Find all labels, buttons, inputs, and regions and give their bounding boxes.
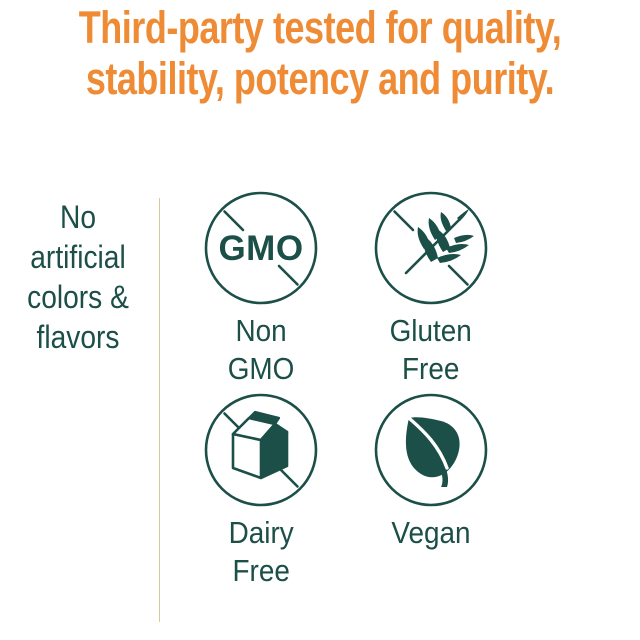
- badge-label-line-1: Dairy: [228, 514, 293, 552]
- vertical-divider: [159, 198, 160, 622]
- claim-line-4: flavors: [16, 317, 139, 357]
- badge-label-line-2: Free: [228, 552, 293, 590]
- no-artificial-colors-flavors-claim: No artificial colors & flavors: [8, 197, 148, 357]
- leaf-icon: [369, 388, 493, 512]
- badge-vegan[interactable]: Vegan: [346, 388, 516, 590]
- badge-row-bottom: Dairy Free Vegan: [176, 388, 516, 590]
- badge-label-line-1: Non: [228, 312, 295, 350]
- certification-badge-grid: GMO Non GMO: [176, 186, 516, 590]
- claim-line-3: colors &: [16, 277, 139, 317]
- wheat-stalk-shape: [406, 209, 474, 273]
- badge-label-vegan: Vegan: [387, 514, 475, 552]
- badge-label-dairy-free: Dairy Free: [225, 514, 297, 590]
- carton-shape: [233, 412, 287, 478]
- no-gmo-icon: GMO: [199, 186, 323, 310]
- badge-non-gmo[interactable]: GMO Non GMO: [176, 186, 346, 388]
- gmo-inner-text: GMO: [218, 229, 303, 268]
- badge-dairy-free[interactable]: Dairy Free: [176, 388, 346, 590]
- badge-label-line-1: Vegan: [391, 514, 470, 552]
- headline: Third-party tested for quality, stabilit…: [0, 0, 640, 104]
- headline-line-1: Third-party tested for quality,: [64, 2, 576, 53]
- badge-gluten-free[interactable]: Gluten Free: [346, 186, 516, 388]
- badge-label-gluten-free: Gluten Free: [385, 312, 476, 388]
- badge-label-non-gmo: Non GMO: [224, 312, 298, 388]
- leaf-shape: [406, 417, 460, 487]
- headline-line-2: stability, potency and purity.: [64, 53, 576, 104]
- claim-line-2: artificial: [16, 237, 139, 277]
- milk-carton-icon: [199, 388, 323, 512]
- badge-label-line-2: Free: [390, 350, 472, 388]
- claim-line-1: No: [16, 197, 139, 237]
- badge-label-line-2: GMO: [228, 350, 295, 388]
- wheat-icon: [369, 186, 493, 310]
- badge-row-top: GMO Non GMO: [176, 186, 516, 388]
- badge-label-line-1: Gluten: [390, 312, 472, 350]
